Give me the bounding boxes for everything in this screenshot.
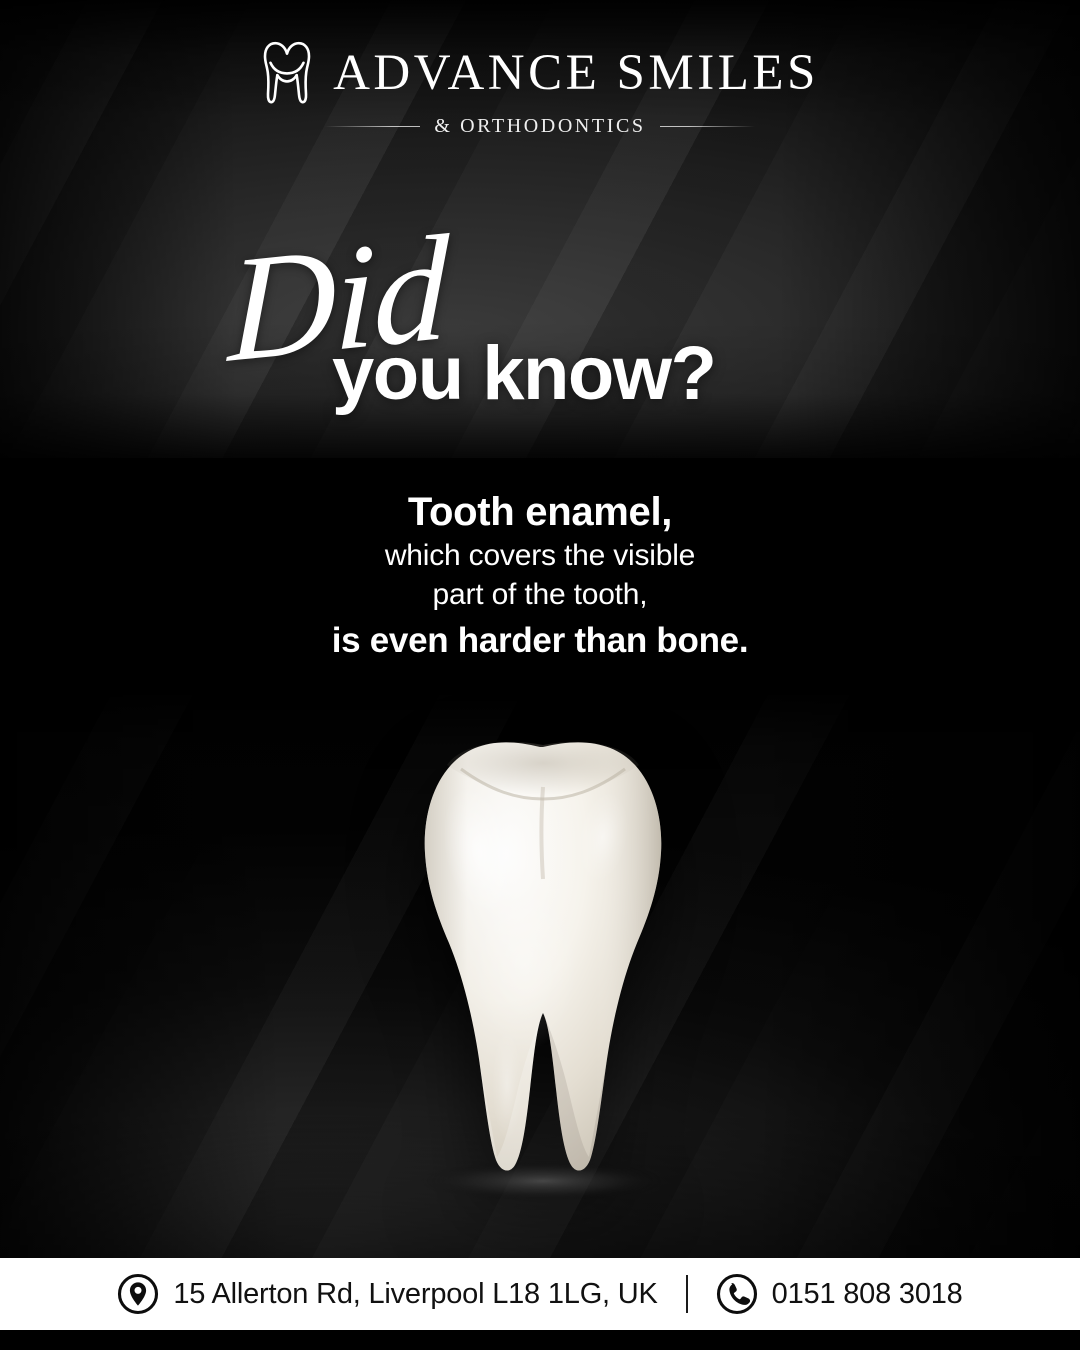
footer-separator — [686, 1275, 688, 1313]
footer-phone-item[interactable]: 0151 808 3018 — [716, 1273, 963, 1315]
tooth-image-holder — [0, 729, 1080, 1199]
footer-contact-bar: 15 Allerton Rd, Liverpool L18 1LG, UK 01… — [0, 1258, 1080, 1330]
fact-line-2: which covers the visible — [385, 536, 695, 575]
headline-block: Did you know? — [0, 228, 1080, 428]
tooth-floor-shadow — [417, 1161, 669, 1199]
hero-section: ADVANCE SMILES & ORTHODONTICS Did you kn… — [0, 0, 1080, 458]
fact-line-1: Tooth enamel, — [408, 489, 672, 536]
fact-line-4: is even harder than bone. — [332, 618, 749, 664]
poster-canvas: ADVANCE SMILES & ORTHODONTICS Did you kn… — [0, 0, 1080, 1350]
brand-name: ADVANCE SMILES — [333, 48, 819, 99]
brand-logo: ADVANCE SMILES & ORTHODONTICS — [0, 40, 1080, 138]
fact-line-3: part of the tooth, — [433, 575, 648, 614]
rule-right — [660, 126, 755, 127]
brand-subtitle-row: & ORTHODONTICS — [325, 115, 755, 138]
fact-band: Tooth enamel, which covers the visible p… — [0, 458, 1080, 695]
brand-subtitle: & ORTHODONTICS — [434, 115, 645, 138]
footer-address-item[interactable]: 15 Allerton Rd, Liverpool L18 1LG, UK — [117, 1273, 657, 1315]
footer-phone-text: 0151 808 3018 — [772, 1278, 963, 1311]
tooth-stage — [0, 695, 1080, 1258]
location-pin-icon — [117, 1273, 159, 1315]
footer-address-text: 15 Allerton Rd, Liverpool L18 1LG, UK — [173, 1278, 657, 1311]
molar-tooth-image — [375, 729, 705, 1199]
tooth-outline-icon — [261, 40, 313, 106]
rule-left — [325, 126, 420, 127]
phone-icon — [716, 1273, 758, 1315]
headline-bold-words: you know? — [332, 336, 715, 412]
brand-logo-row: ADVANCE SMILES — [261, 40, 819, 106]
headline-inner: Did you know? — [220, 228, 860, 428]
footer-base-strip — [0, 1330, 1080, 1350]
